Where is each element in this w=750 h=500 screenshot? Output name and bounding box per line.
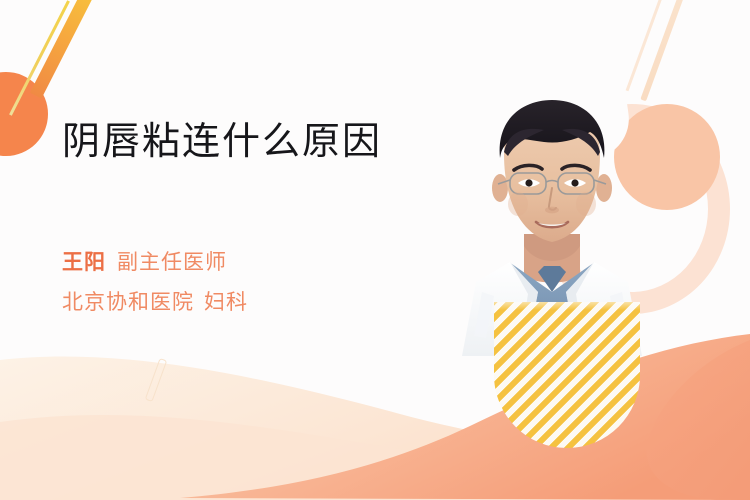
striped-half-disc-fill	[494, 302, 640, 448]
doctor-department: 妇科	[204, 291, 248, 314]
orange-circle-decor	[0, 72, 48, 156]
doctor-name-line: 王阳副主任医师	[62, 249, 227, 277]
doctor-affiliation-line: 北京协和医院妇科	[62, 289, 248, 317]
wave-salmon-deep	[647, 340, 750, 500]
top-right-thin-stripe-decor	[626, 0, 666, 91]
top-left-thin-stripe-decor	[9, 0, 70, 115]
page-title: 阴唇粘连什么原因	[62, 120, 382, 166]
doctor-hospital: 北京协和医院	[62, 291, 194, 314]
top-left-thick-stripe-decor	[30, 0, 95, 99]
wave-salmon	[180, 334, 750, 500]
striped-half-disc-decor	[494, 302, 640, 448]
doctor-info-card: 阴唇粘连什么原因 王阳副主任医师 北京协和医院妇科	[0, 0, 750, 500]
striped-half-disc-fade	[494, 302, 640, 310]
mini-bar-decor	[145, 358, 168, 402]
top-right-thick-stripe-decor	[640, 0, 687, 101]
doctor-name: 王阳	[62, 251, 106, 274]
doctor-title: 副主任医师	[117, 251, 227, 274]
